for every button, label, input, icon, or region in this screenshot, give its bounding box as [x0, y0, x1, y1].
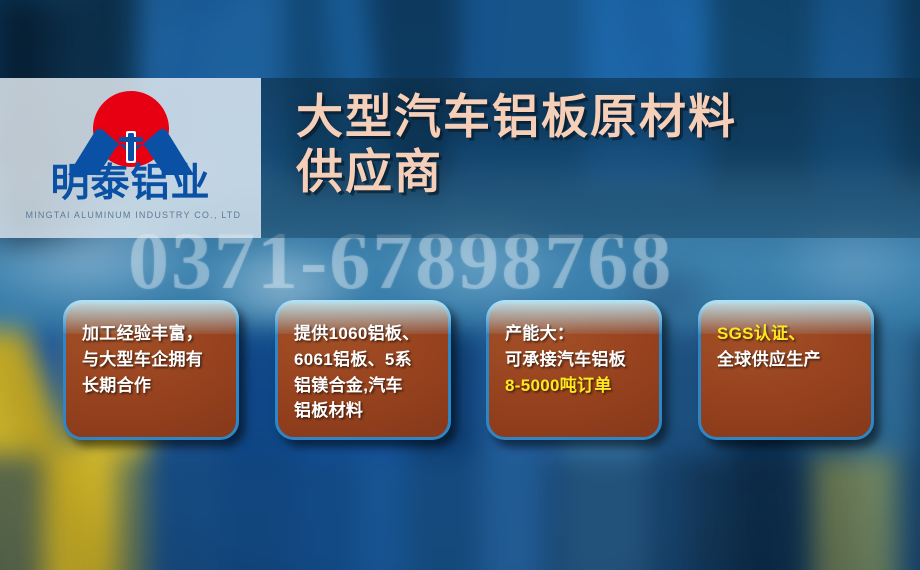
feature-card-line: 铝板材料	[294, 398, 434, 424]
headline-line-2: 供应商	[296, 145, 737, 200]
logo-name-en: MINGTAI ALUMINUM INDUSTRY CO., LTD	[26, 210, 236, 220]
feature-card-line: 全球供应生产	[717, 347, 857, 373]
headline-panel: 大型汽车铝板原材料 供应商	[261, 78, 920, 238]
feature-card-text: SGS认证、 全球供应生产	[717, 321, 857, 373]
feature-card-line-highlight: 8-5000吨订单	[505, 373, 645, 399]
headline-line-1: 大型汽车铝板原材料	[296, 90, 737, 143]
feature-card-text: 产能大： 可承接汽车铝板 8-5000吨订单	[505, 321, 645, 398]
feature-card-line: 加工经验丰富，	[82, 321, 222, 347]
feature-card-line: 可承接汽车铝板	[505, 347, 645, 373]
headline: 大型汽车铝板原材料 供应商	[296, 90, 737, 200]
feature-card-text: 提供1060铝板、 6061铝板、5系 铝镁合金,汽车 铝板材料	[294, 321, 434, 424]
banner-stage: 0371-67898768 明泰铝业 MINGTAI ALUMINUM INDU…	[0, 0, 920, 570]
logo-panel: 明泰铝业 MINGTAI ALUMINUM INDUSTRY CO., LTD	[0, 78, 261, 238]
feature-card-capacity[interactable]: 产能大： 可承接汽车铝板 8-5000吨订单	[486, 300, 662, 440]
company-logo: 明泰铝业 MINGTAI ALUMINUM INDUSTRY CO., LTD	[26, 89, 236, 227]
feature-card-products[interactable]: 提供1060铝板、 6061铝板、5系 铝镁合金,汽车 铝板材料	[275, 300, 451, 440]
feature-card-certification[interactable]: SGS认证、 全球供应生产	[698, 300, 874, 440]
feature-card-line: 与大型车企拥有	[82, 347, 222, 373]
feature-card-line: 6061铝板、5系	[294, 347, 434, 373]
feature-card-line: 提供1060铝板、	[294, 321, 434, 347]
feature-card-line: 产能大：	[505, 321, 645, 347]
feature-card-line: 长期合作	[82, 373, 222, 399]
feature-card-text: 加工经验丰富， 与大型车企拥有 长期合作	[82, 321, 222, 398]
feature-card-experience[interactable]: 加工经验丰富， 与大型车企拥有 长期合作	[63, 300, 239, 440]
feature-card-line: 铝镁合金,汽车	[294, 373, 434, 399]
logo-name-cn: 明泰铝业	[26, 164, 236, 203]
feature-card-list: 加工经验丰富， 与大型车企拥有 长期合作 提供1060铝板、 6061铝板、5系…	[0, 300, 920, 445]
feature-card-line-highlight: SGS认证、	[717, 321, 857, 347]
